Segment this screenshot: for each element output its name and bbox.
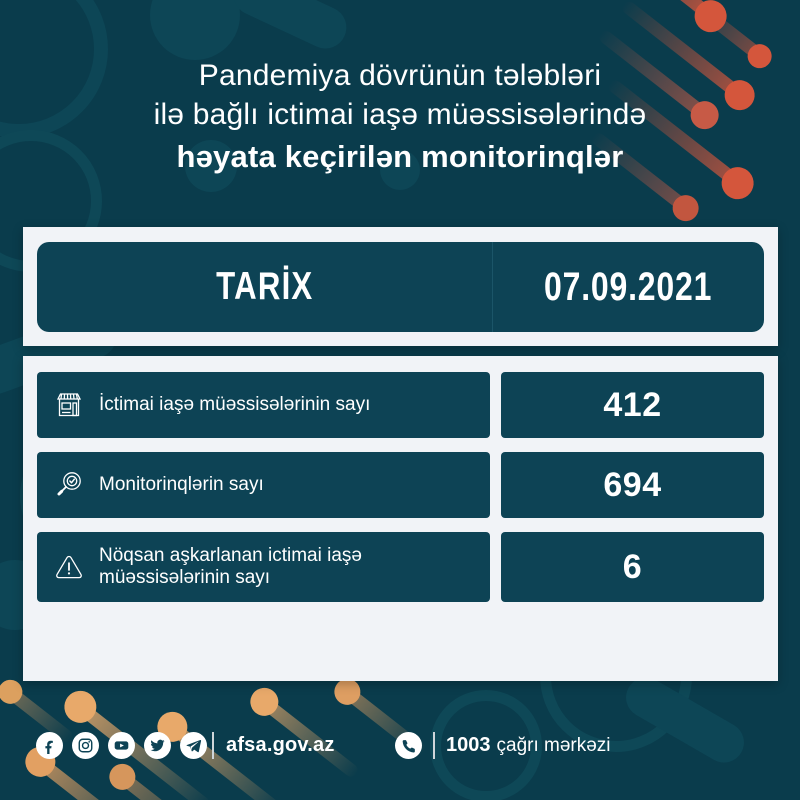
phone-icon xyxy=(395,732,422,759)
stat-label: İctimai iaşə müəssisələrinin sayı xyxy=(99,394,370,416)
stat-label: Nöqsan aşkarlanan ictimai iaşə müəssisəl… xyxy=(99,545,476,590)
row-gap xyxy=(490,372,501,438)
stat-row: Monitorinqlərin sayı 694 xyxy=(37,452,764,518)
date-label: TARİX xyxy=(216,265,313,309)
footer-divider xyxy=(212,732,214,759)
date-value-cell: 07.09.2021 xyxy=(493,242,764,332)
call-center: 1003 çağrı mərkəzi xyxy=(395,732,611,759)
stats-card: İctimai iaşə müəssisələrinin sayı 412 xyxy=(23,356,778,681)
phone-divider xyxy=(433,732,435,759)
warning-triangle-icon xyxy=(51,549,87,585)
footer: afsa.gov.az 1003 çağrı mərkəzi xyxy=(0,718,800,788)
date-card: TARİX 07.09.2021 xyxy=(23,227,778,346)
stat-label-panel: Monitorinqlərin sayı xyxy=(37,452,490,518)
decor-cap xyxy=(227,0,354,55)
title-line-1: Pandemiya dövrünün tələbləri xyxy=(0,56,800,95)
row-gap xyxy=(490,532,501,602)
date-bar: TARİX 07.09.2021 xyxy=(37,242,764,332)
social-links xyxy=(36,732,207,759)
telegram-icon[interactable] xyxy=(180,732,207,759)
website-url[interactable]: afsa.gov.az xyxy=(226,734,335,757)
phone-label: çağrı mərkəzi xyxy=(497,735,611,757)
stat-value-panel: 694 xyxy=(501,452,764,518)
infographic-canvas: Pandemiya dövrünün tələbləri ilə bağlı i… xyxy=(0,0,800,800)
title-line-2: ilə bağlı ictimai iaşə müəssisələrində xyxy=(0,95,800,134)
phone-number: 1003 xyxy=(446,734,491,757)
youtube-icon[interactable] xyxy=(108,732,135,759)
decor-blob xyxy=(150,0,240,60)
magnifier-check-icon xyxy=(51,467,87,503)
stat-value: 6 xyxy=(623,548,642,587)
stat-value-panel: 412 xyxy=(501,372,764,438)
stat-value: 694 xyxy=(603,466,661,505)
facebook-icon[interactable] xyxy=(36,732,63,759)
stat-value-panel: 6 xyxy=(501,532,764,602)
date-label-cell: TARİX xyxy=(37,242,492,332)
stat-value: 412 xyxy=(603,386,661,425)
stat-label-panel: İctimai iaşə müəssisələrinin sayı xyxy=(37,372,490,438)
title-line-3: həyata keçirilən monitorinqlər xyxy=(0,137,800,177)
twitter-icon[interactable] xyxy=(144,732,171,759)
row-gap xyxy=(490,452,501,518)
stat-label-panel: Nöqsan aşkarlanan ictimai iaşə müəssisəl… xyxy=(37,532,490,602)
stat-row: Nöqsan aşkarlanan ictimai iaşə müəssisəl… xyxy=(37,532,764,602)
instagram-icon[interactable] xyxy=(72,732,99,759)
stat-label: Monitorinqlərin sayı xyxy=(99,474,264,496)
page-title: Pandemiya dövrünün tələbləri ilə bağlı i… xyxy=(0,56,800,177)
storefront-icon xyxy=(51,387,87,423)
date-value: 07.09.2021 xyxy=(544,265,712,310)
stat-row: İctimai iaşə müəssisələrinin sayı 412 xyxy=(37,372,764,438)
